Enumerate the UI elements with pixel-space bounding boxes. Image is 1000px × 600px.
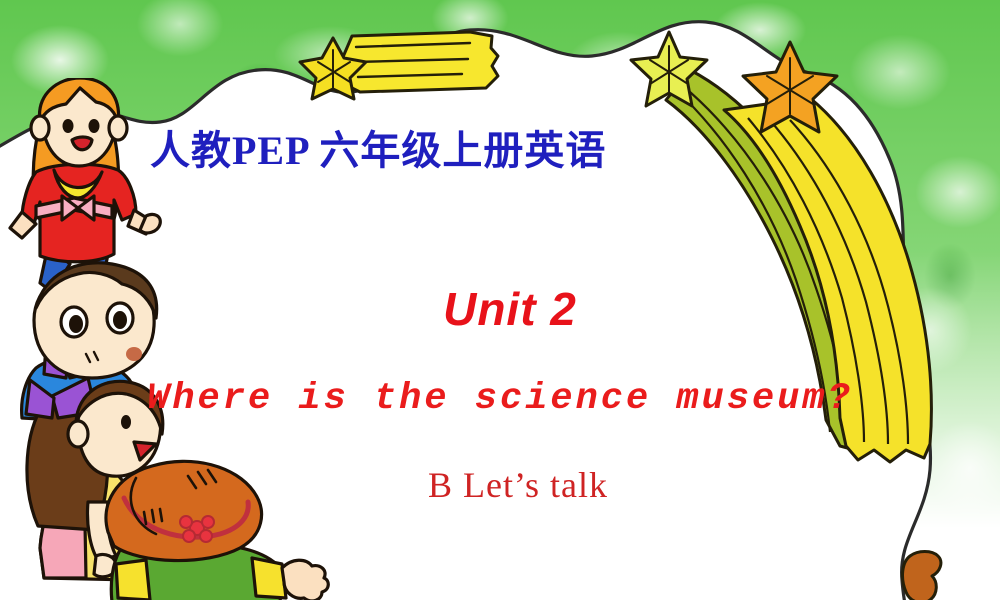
unit-title: Unit 2	[10, 282, 1000, 336]
course-title: 人教PEP 六年级上册英语	[150, 118, 606, 176]
section-label: B Let’s talk	[18, 464, 1000, 506]
text-layer: 人教PEP 六年级上册英语 Unit 2 Where is the scienc…	[0, 0, 1000, 600]
lesson-question: Where is the science museum?	[0, 378, 1000, 420]
slide-canvas: 人教PEP 六年级上册英语 Unit 2 Where is the scienc…	[0, 0, 1000, 600]
